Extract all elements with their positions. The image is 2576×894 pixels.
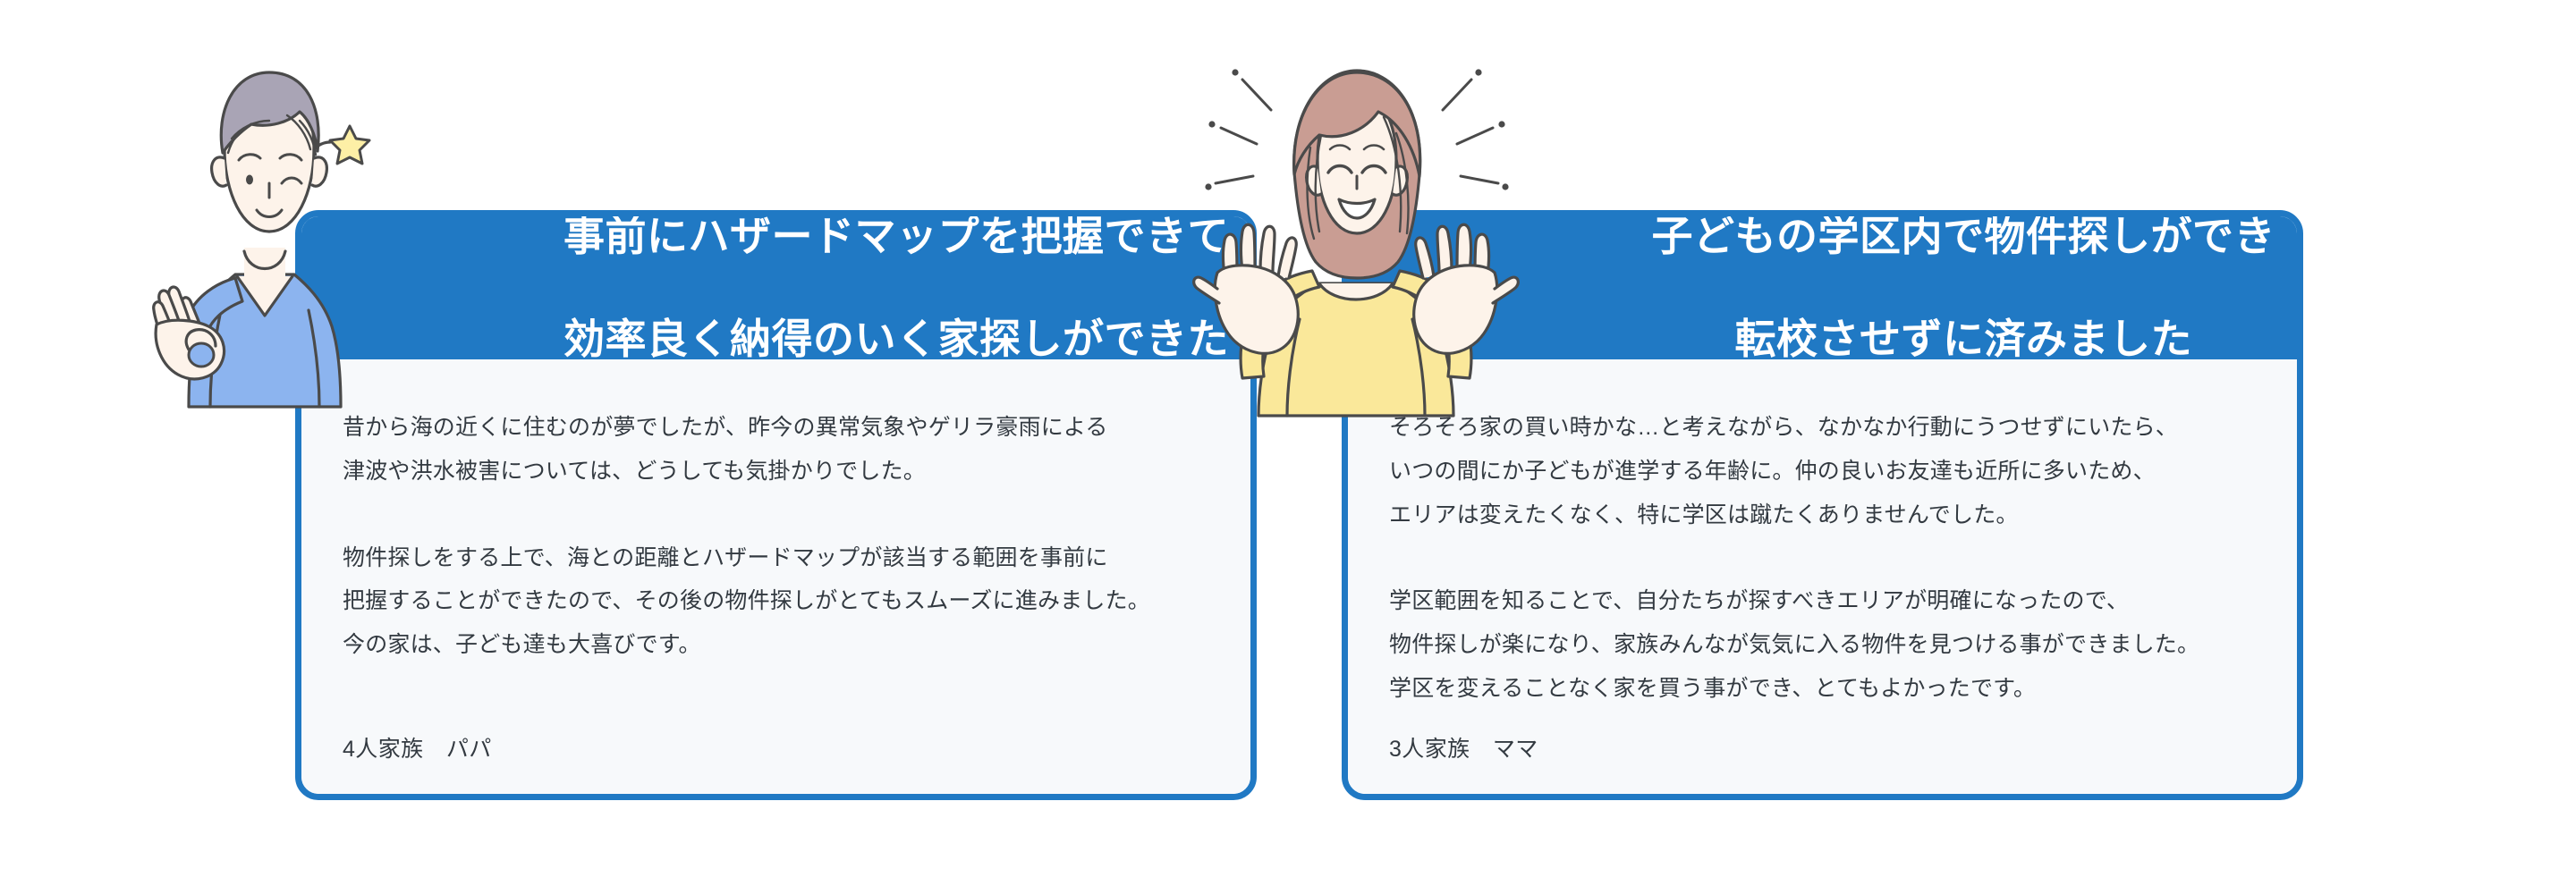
headline-line-2: 転校させずに済みました [1652,314,2276,366]
testimonial-paragraph-2: 物件探しをする上で、海との距離とハザードマップが該当する範囲を事前に 把握するこ… [343,536,1209,667]
card-body: 昔から海の近くに住むのが夢でしたが、昨今の異常気象やゲリラ豪雨による 津波や洪水… [301,359,1250,794]
headline-line-2: 効率良く納得のいく家探しができた [563,314,1229,366]
card-headline: 子どもの学区内で物件探しができ 転校させずに済みました [1652,210,2282,417]
testimonial-signature: 3人家族 ママ [1389,731,1538,763]
card-frame: 子どもの学区内で物件探しができ 転校させずに済みました そろそろ家の買い時かな…… [1342,210,2303,800]
testimonial-section: 事前にハザードマップを把握できて 効率良く納得のいく家探しができた 昔から海の近… [0,0,2576,894]
testimonial-paragraph-2: 学区範囲を知ることで、自分たちが探すべきエリアが明確になったので、 物件探しが楽… [1389,579,2256,710]
card-header-banner: 事前にハザードマップを把握できて 効率良く納得のいく家探しができた [301,216,1250,359]
sparkle-lines-left-icon [1205,69,1271,190]
card-frame: 事前にハザードマップを把握できて 効率良く納得のいく家探しができた 昔から海の近… [295,210,1257,800]
testimonial-signature: 4人家族 パパ [343,731,492,763]
sparkle-lines-right-icon [1443,69,1509,190]
card-body: そろそろ家の買い時かな…と考えながら、なかなか行動にうつせずにいたら、 いつの間… [1348,359,2297,794]
testimonial-card-hazard-map: 事前にハザードマップを把握できて 効率良く納得のいく家探しができた 昔から海の近… [295,210,1257,800]
headline-line-1: 子どもの学区内で物件探しができ [1652,211,2276,263]
headline-line-1: 事前にハザードマップを把握できて [563,211,1229,263]
card-header-banner: 子どもの学区内で物件探しができ 転校させずに済みました [1348,216,2297,359]
testimonial-paragraph-1: 昔から海の近くに住むのが夢でしたが、昨今の異常気象やゲリラ豪雨による 津波や洪水… [343,406,1209,493]
star-sparkle-icon [314,126,369,164]
card-headline: 事前にハザードマップを把握できて 効率良く納得のいく家探しができた [563,210,1234,417]
testimonial-card-school-district: 子どもの学区内で物件探しができ 転校させずに済みました そろそろ家の買い時かな…… [1342,210,2303,800]
testimonial-paragraph-1: そろそろ家の買い時かな…と考えながら、なかなか行動にうつせずにいたら、 いつの間… [1389,406,2256,536]
